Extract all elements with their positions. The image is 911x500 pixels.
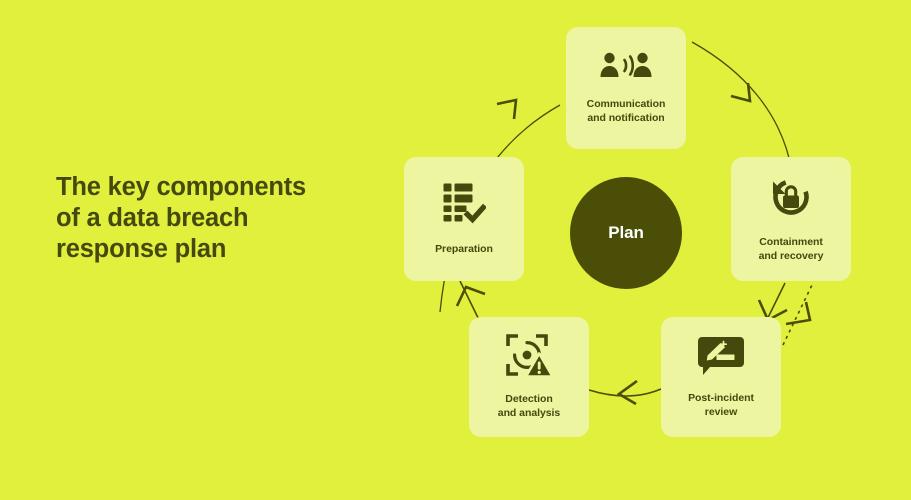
diagram-canvas: The key components of a data breach resp…: [0, 0, 911, 500]
node-label-post-incident: Post-incident review: [688, 391, 754, 419]
center-hub-label: Plan: [608, 223, 644, 243]
restore-lock-icon: [769, 175, 813, 219]
node-card-detection[interactable]: Detection and analysis: [469, 317, 589, 437]
title-block: The key components of a data breach resp…: [56, 172, 386, 265]
speech-bubble-edit-icon: [698, 335, 744, 377]
node-card-containment[interactable]: Containment and recovery: [731, 157, 851, 281]
node-label-preparation: Preparation: [435, 242, 493, 256]
node-label-communication: Communication and notification: [587, 97, 666, 125]
checklist-table-icon: [442, 182, 486, 224]
node-card-post-incident[interactable]: Post-incident review: [661, 317, 781, 437]
people-talking-icon: [600, 51, 652, 81]
connector-post-incident-to-detection: [589, 381, 661, 404]
node-card-communication[interactable]: Communication and notification: [566, 27, 686, 149]
connector-post-incident-to-containment-feedback: [783, 285, 812, 345]
center-hub: Plan: [570, 177, 682, 289]
page-title: The key components of a data breach resp…: [56, 172, 386, 265]
node-card-preparation[interactable]: Preparation: [404, 157, 524, 281]
node-label-detection: Detection and analysis: [498, 392, 560, 420]
scan-warning-icon: [506, 334, 552, 378]
connector-communication-to-containment: [692, 42, 792, 172]
node-label-containment: Containment and recovery: [759, 235, 824, 263]
